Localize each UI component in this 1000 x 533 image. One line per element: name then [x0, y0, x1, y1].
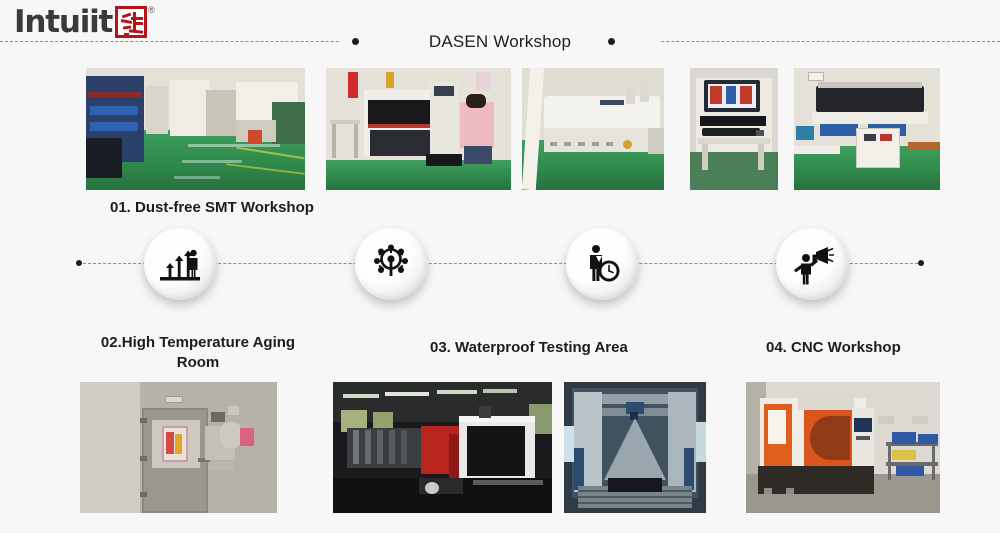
caption-aging-room: 02.High Temperature Aging Room — [82, 333, 314, 374]
growth-chart-people-icon[interactable] — [144, 228, 216, 300]
caption-smt-workshop: 01. Dust-free SMT Workshop — [110, 198, 314, 218]
pick-and-place-machine-photo — [326, 68, 511, 190]
milestone-dot-left-icon — [76, 260, 82, 266]
aging-room-door-photo — [80, 382, 277, 513]
caption-aging-room-line1: 02.High Temperature Aging — [82, 333, 314, 353]
reflow-oven-photo — [522, 68, 664, 190]
registered-trademark-icon: ® — [148, 5, 155, 15]
waterproof-test-line-photo — [333, 382, 552, 513]
caption-waterproof-testing: 03. Waterproof Testing Area — [430, 338, 628, 358]
header-dot-right-icon — [608, 38, 615, 45]
cnc-machine-photo — [746, 382, 940, 513]
person-megaphone-icon[interactable] — [776, 228, 848, 300]
caption-aging-room-line2: Room — [82, 353, 314, 373]
chinese-seal-icon — [115, 6, 147, 38]
aoi-inspection-machine-photo — [690, 68, 778, 190]
person-clock-icon[interactable] — [566, 228, 638, 300]
water-spray-chamber-photo — [564, 382, 706, 513]
header-dot-left-icon — [352, 38, 359, 45]
smt-production-line-photo — [86, 68, 305, 190]
milestone-dot-right-icon — [918, 260, 924, 266]
brand-logo: Intuiit ® — [14, 4, 155, 40]
page-title-text: DASEN Workshop — [429, 32, 571, 52]
workshop-infographic: Intuiit ® DASEN Workshop — [0, 0, 1000, 533]
solder-paste-printer-photo — [794, 68, 940, 190]
caption-cnc-workshop: 04. CNC Workshop — [766, 338, 901, 358]
gear-network-icon[interactable] — [355, 228, 427, 300]
brand-wordmark: Intuiit — [14, 7, 112, 38]
